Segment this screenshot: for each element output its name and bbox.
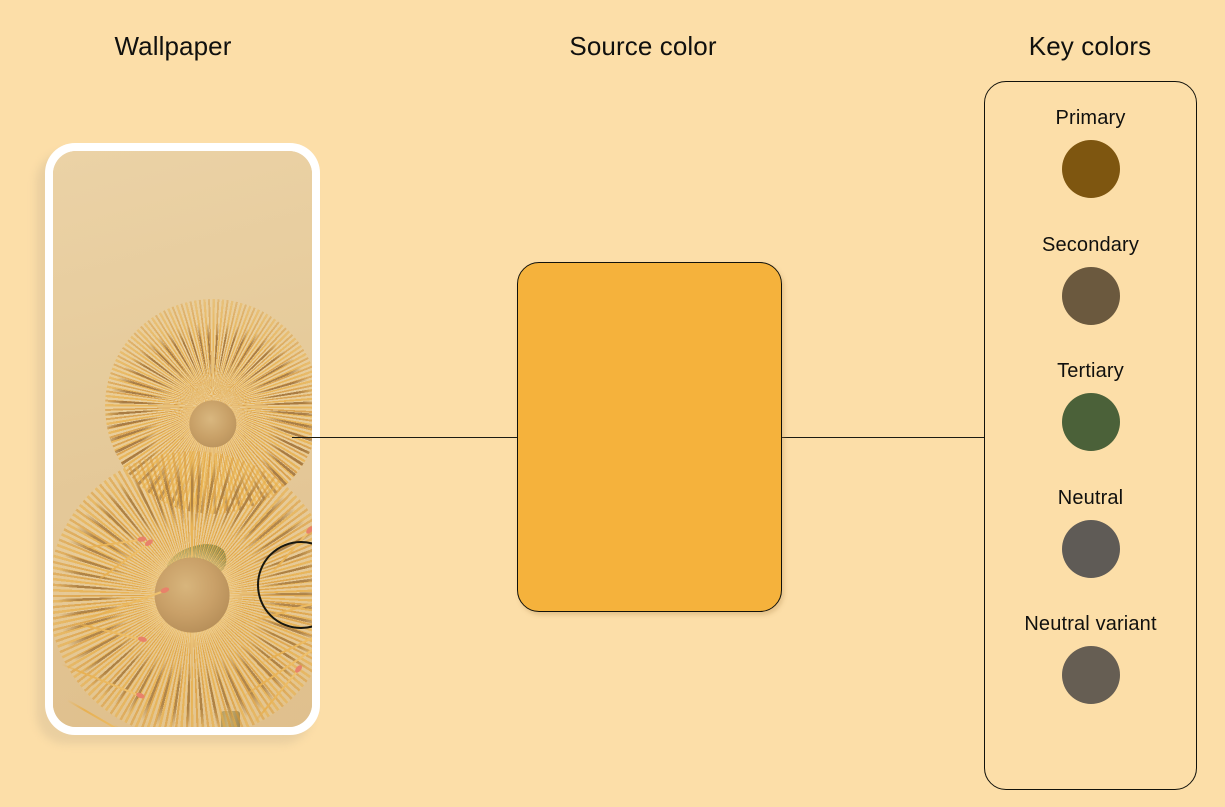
key-color-label-secondary: Secondary [1042, 234, 1139, 257]
key-color-label-neutral-variant: Neutral variant [1024, 613, 1156, 636]
key-colors-column-heading: Key colors [1029, 31, 1151, 62]
source-color-column-heading: Source color [569, 31, 716, 62]
key-color-label-tertiary: Tertiary [1057, 360, 1124, 383]
key-color-item-neutral: Neutral [985, 487, 1196, 578]
wallpaper-image [53, 151, 312, 727]
key-color-swatch-tertiary [1062, 393, 1120, 451]
key-color-swatch-neutral-variant [1062, 646, 1120, 704]
key-color-item-primary: Primary [985, 107, 1196, 198]
key-color-swatch-primary [1062, 140, 1120, 198]
key-color-label-neutral: Neutral [1058, 487, 1124, 510]
wallpaper-to-source-connector [292, 437, 518, 438]
diagram-canvas: Wallpaper Source color Key colors [0, 0, 1225, 807]
wallpaper-column-heading: Wallpaper [115, 31, 232, 62]
key-color-swatch-secondary [1062, 267, 1120, 325]
wallpaper-phone-frame [45, 143, 320, 735]
key-color-item-neutral-variant: Neutral variant [985, 613, 1196, 704]
key-color-label-primary: Primary [1056, 107, 1126, 130]
key-color-swatch-neutral [1062, 520, 1120, 578]
key-color-item-tertiary: Tertiary [985, 360, 1196, 451]
source-to-key-colors-connector [781, 437, 985, 438]
key-colors-panel: Primary Secondary Tertiary Neutral Neutr… [984, 81, 1197, 790]
source-color-swatch [517, 262, 782, 612]
key-color-item-secondary: Secondary [985, 234, 1196, 325]
